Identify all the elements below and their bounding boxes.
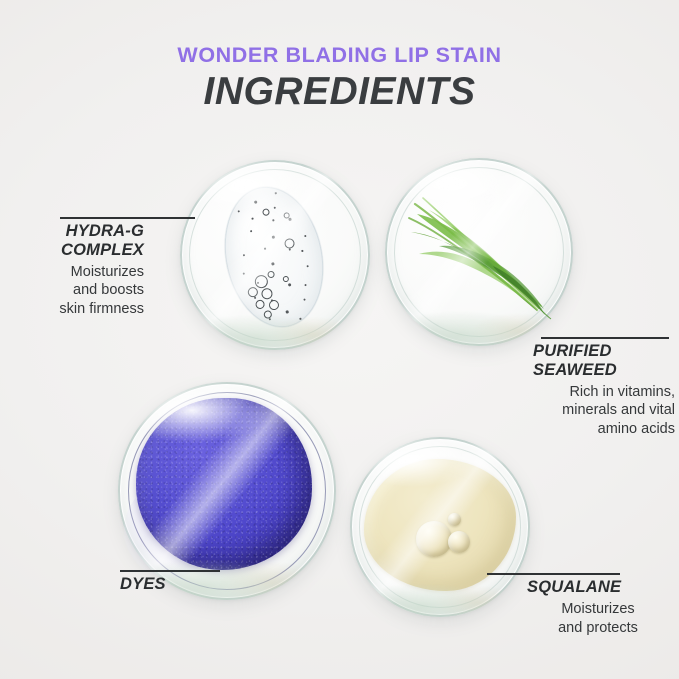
- petri-dish-purified-seaweed: [385, 158, 573, 346]
- petri-dish-squalane: [350, 437, 530, 617]
- callout-desc-line2: and protects: [558, 620, 638, 636]
- callout-desc-line3: skin firmness: [59, 301, 144, 317]
- callout-title: HYDRA-G COMPLEX: [4, 222, 144, 260]
- squalane-oil-sample: [364, 459, 516, 591]
- callout-desc-line1: Rich in vitamins,: [569, 384, 675, 400]
- blue-dye-powder-sample: [136, 398, 312, 570]
- callout-desc-line1: Moisturizes: [561, 601, 634, 617]
- callout-desc-line2: and boosts: [73, 282, 144, 298]
- callout-desc-line3: amino acids: [598, 421, 675, 437]
- seaweed-sample: [407, 192, 557, 320]
- powder-grain-texture: [136, 398, 312, 570]
- brand-title: WONDER BLADING LIP STAIN: [0, 45, 679, 67]
- leader-line-squalane: [487, 573, 620, 575]
- callout-title: PURIFIED SEAWEED: [533, 342, 675, 380]
- leader-line-purified-seaweed: [541, 337, 669, 339]
- callout-title-line2: SEAWEED: [533, 361, 617, 379]
- callout-squalane: SQUALANE Moisturizes and protects: [527, 578, 675, 637]
- callout-desc-line2: minerals and vital: [562, 402, 675, 418]
- oil-droplet-small: [448, 513, 461, 526]
- petri-dish-dyes: [118, 382, 336, 600]
- callout-title: SQUALANE: [527, 578, 675, 597]
- callout-hydra-g-complex: HYDRA-G COMPLEX Moisturizes and boosts s…: [4, 222, 144, 319]
- callout-purified-seaweed: PURIFIED SEAWEED Rich in vitamins, miner…: [533, 342, 675, 439]
- callout-title-line1: HYDRA-G: [66, 222, 144, 240]
- petri-dish-hydra-g-complex: [180, 160, 370, 350]
- callout-description: Moisturizes and boosts skin firmness: [4, 263, 144, 320]
- oil-droplet-large: [416, 521, 452, 557]
- callout-desc-line1: Moisturizes: [71, 264, 144, 280]
- callout-title-line1: PURIFIED: [533, 342, 612, 360]
- page-title: INGREDIENTS: [0, 71, 679, 114]
- ingredients-poster: WONDER BLADING LIP STAIN INGREDIENTS: [0, 0, 679, 679]
- oil-droplet-medium: [448, 531, 470, 553]
- callout-dyes: DYES: [120, 575, 238, 594]
- callout-title-line1: DYES: [120, 575, 166, 593]
- callout-title-line1: SQUALANE: [527, 578, 621, 596]
- leader-line-dyes: [120, 570, 220, 572]
- leader-line-hydra-g-complex: [60, 217, 195, 219]
- callout-description: Moisturizes and protects: [521, 600, 675, 638]
- callout-title-line2: COMPLEX: [61, 241, 144, 259]
- callout-title: DYES: [120, 575, 238, 594]
- callout-description: Rich in vitamins, minerals and vital ami…: [533, 383, 675, 440]
